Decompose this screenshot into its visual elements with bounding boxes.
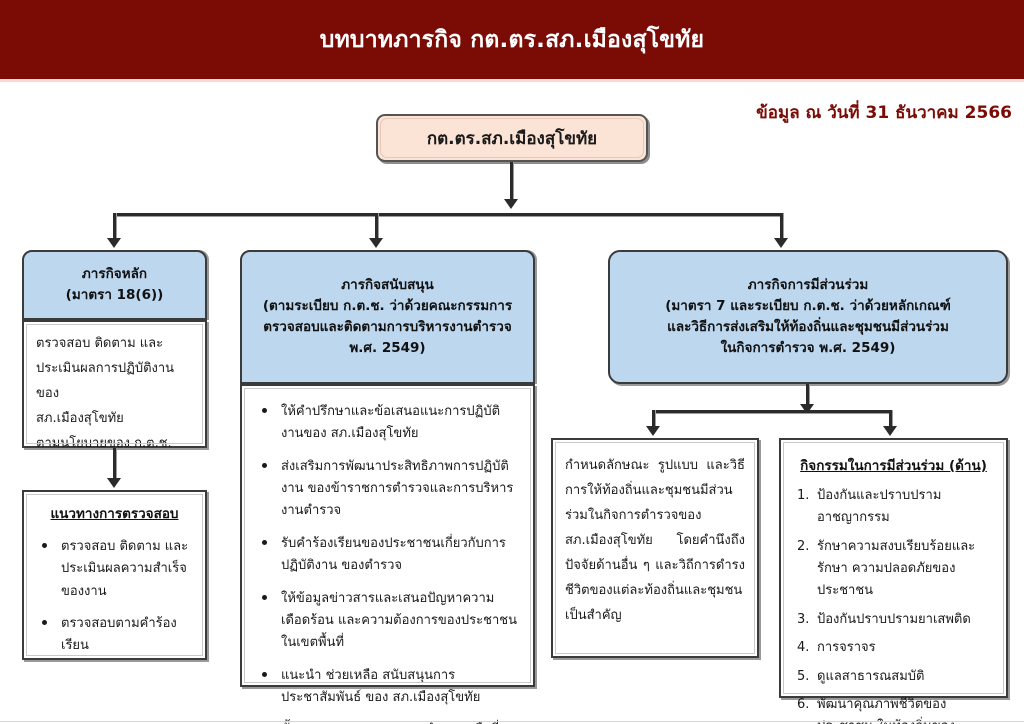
branch-support-header-line-3: ตรวจสอบและติดตามการบริหารงานตำรวจ — [263, 317, 511, 338]
list-item-label: ป้องกันและปราบปรามอาชญากรรม — [817, 488, 941, 525]
branch-main-body-line-1: ตรวจสอบ ติดตาม และ — [36, 332, 193, 357]
branch-main-header[interactable]: ภารกิจหลัก (มาตรา 18(6)) — [22, 250, 207, 320]
branch-participation-header-line-4: ในกิจการตำรวจ พ.ศ. 2549) — [721, 338, 896, 359]
list-item-number: 3. — [797, 609, 809, 631]
branch-participation-header[interactable]: ภารกิจการมีส่วนร่วม (มาตรา 7 และระเบียบ … — [608, 250, 1008, 384]
list-item-label: ป้องกันปราบปรามยาเสพติด — [817, 612, 971, 627]
branch-main-body-line-2: ประเมินผลการปฏิบัติงานของ — [36, 357, 193, 407]
footer-rule — [0, 721, 1024, 722]
list-item: ตรวจสอบ ติดตาม และ ประเมินผลความสำเร็จ ข… — [58, 533, 193, 603]
connector-root-stem — [510, 162, 513, 202]
branch-main-body-line-3: สภ.เมืองสุโขทัย — [36, 407, 193, 432]
list-item-number: 2. — [797, 536, 809, 558]
branch-main-sub-list: ตรวจสอบ ติดตาม และ ประเมินผลความสำเร็จ ข… — [36, 533, 193, 658]
branch-participation-header-line-3: และวิธีการส่งเสริมให้ท้องถิ่นและชุมชนมีส… — [667, 317, 949, 338]
header-underline — [0, 79, 1024, 82]
branch-support-header[interactable]: ภารกิจสนับสนุน (ตามระเบียบ ก.ต.ช. ว่าด้ว… — [240, 250, 535, 384]
branch-main-sub-panel[interactable]: แนวทางการตรวจสอบ ตรวจสอบ ติดตาม และ ประเ… — [22, 490, 207, 660]
list-item: ส่งเสริมการพัฒนาประสิทธิภาพการปฏิบัติงาน… — [278, 453, 519, 523]
connector-arrow-support — [369, 238, 383, 248]
branch-participation-sub-right[interactable]: กิจกรรมในการมีส่วนร่วม (ด้าน) 1.ป้องกันแ… — [779, 438, 1008, 698]
connector-drop-main — [113, 213, 116, 240]
branch-participation-sub-right-title: กิจกรรมในการมีส่วนร่วม (ด้าน) — [793, 454, 994, 476]
root-node-label: กต.ตร.สภ.เมืองสุโขทัย — [427, 125, 597, 152]
list-item: 3.ป้องกันปราบปรามยาเสพติด — [797, 609, 994, 631]
list-item: ให้คำปรึกษาและข้อเสนอแนะการปฏิบัติงานของ… — [278, 398, 519, 446]
diagram-page: บทบาทภารกิจ กต.ตร.สภ.เมืองสุโขทัย ข้อมูล… — [0, 0, 1024, 724]
list-item: 6.พัฒนาคุณภาพชีวิตของประชาชน ในท้องถิ่นข… — [797, 694, 994, 724]
branch-support-header-line-2: (ตามระเบียบ ก.ต.ช. ว่าด้วยคณะกรรมการ — [263, 296, 512, 317]
list-item: ให้ข้อมูลข่าวสารและเสนอปัญหาความเดือดร้อ… — [278, 585, 519, 655]
branch-support-body[interactable]: ให้คำปรึกษาและข้อเสนอแนะการปฏิบัติงานของ… — [240, 384, 535, 687]
list-item: แนะนำ ช่วยเหลือ สนับสนุนการประชาสัมพันธ์… — [278, 662, 519, 710]
connector-participation-arrow-right — [883, 426, 897, 436]
list-item-number: 5. — [797, 666, 809, 688]
list-item-number: 4. — [797, 637, 809, 659]
list-item: 5.ดูแลสาธารณสมบัติ — [797, 666, 994, 688]
branch-support-header-line-4: พ.ศ. 2549) — [349, 338, 425, 359]
list-item-label: ดูแลสาธารณสมบัติ — [817, 669, 925, 684]
connector-main-to-sub-arrow — [107, 478, 121, 488]
branch-main-body[interactable]: ตรวจสอบ ติดตาม และ ประเมินผลการปฏิบัติงา… — [22, 320, 207, 448]
list-item-number: 1. — [797, 485, 809, 507]
list-item-label: รักษาความสงบเรียบร้อยและรักษา ความปลอดภั… — [817, 539, 975, 599]
connector-root-arrow — [504, 199, 518, 209]
branch-main-body-text: ตรวจสอบ ติดตาม และ ประเมินผลการปฏิบัติงา… — [36, 332, 193, 457]
branch-participation-header-line-2: (มาตรา 7 และระเบียบ ก.ต.ช. ว่าด้วยหลักเก… — [665, 296, 951, 317]
list-item: 1.ป้องกันและปราบปรามอาชญากรรม — [797, 485, 994, 530]
connector-drop-support — [375, 213, 378, 240]
list-item-label: การจราจร — [817, 640, 876, 655]
branch-participation-header-line-1: ภารกิจการมีส่วนร่วม — [748, 275, 869, 296]
connector-participation-bus — [652, 410, 892, 413]
list-item: รับคำร้องเรียนของประชาชนเกี่ยวกับการ ปฏิ… — [278, 530, 519, 578]
connector-bus-main — [113, 213, 783, 216]
connector-arrow-main — [107, 238, 121, 248]
branch-participation-sub-left[interactable]: กำหนดลักษณะ รูปแบบ และวิธีการให้ท้องถิ่น… — [551, 438, 759, 658]
list-item-label: พัฒนาคุณภาพชีวิตของประชาชน ในท้องถิ่นของ… — [817, 697, 955, 724]
list-item-number: 6. — [797, 694, 809, 716]
connector-drop-participation — [780, 213, 783, 240]
list-item: 4.การจราจร — [797, 637, 994, 659]
branch-participation-sub-left-text: กำหนดลักษณะ รูปแบบ และวิธีการให้ท้องถิ่น… — [565, 454, 745, 629]
list-item: ตรวจสอบตามคำร้องเรียน — [58, 610, 193, 658]
branch-main-sub-title: แนวทางการตรวจสอบ — [36, 502, 193, 524]
branch-support-header-line-1: ภารกิจสนับสนุน — [341, 275, 434, 296]
branch-main-header-line-1: ภารกิจหลัก — [82, 264, 147, 285]
root-node[interactable]: กต.ตร.สภ.เมืองสุโขทัย — [376, 114, 648, 162]
date-stamp: ข้อมูล ณ วันที่ 31 ธันวาคม 2566 — [756, 99, 1012, 126]
page-title: บทบาทภารกิจ กต.ตร.สภ.เมืองสุโขทัย — [0, 0, 1024, 79]
branch-participation-activity-list: 1.ป้องกันและปราบปรามอาชญากรรม 2.รักษาควา… — [793, 485, 994, 724]
list-item: 2.รักษาความสงบเรียบร้อยและรักษา ความปลอด… — [797, 536, 994, 603]
connector-participation-arrow-left — [646, 426, 660, 436]
branch-support-list: ให้คำปรึกษาและข้อเสนอแนะการปฏิบัติงานของ… — [256, 398, 519, 724]
connector-main-to-sub — [113, 448, 116, 480]
branch-main-header-line-2: (มาตรา 18(6)) — [66, 285, 164, 306]
connector-arrow-participation — [774, 238, 788, 248]
